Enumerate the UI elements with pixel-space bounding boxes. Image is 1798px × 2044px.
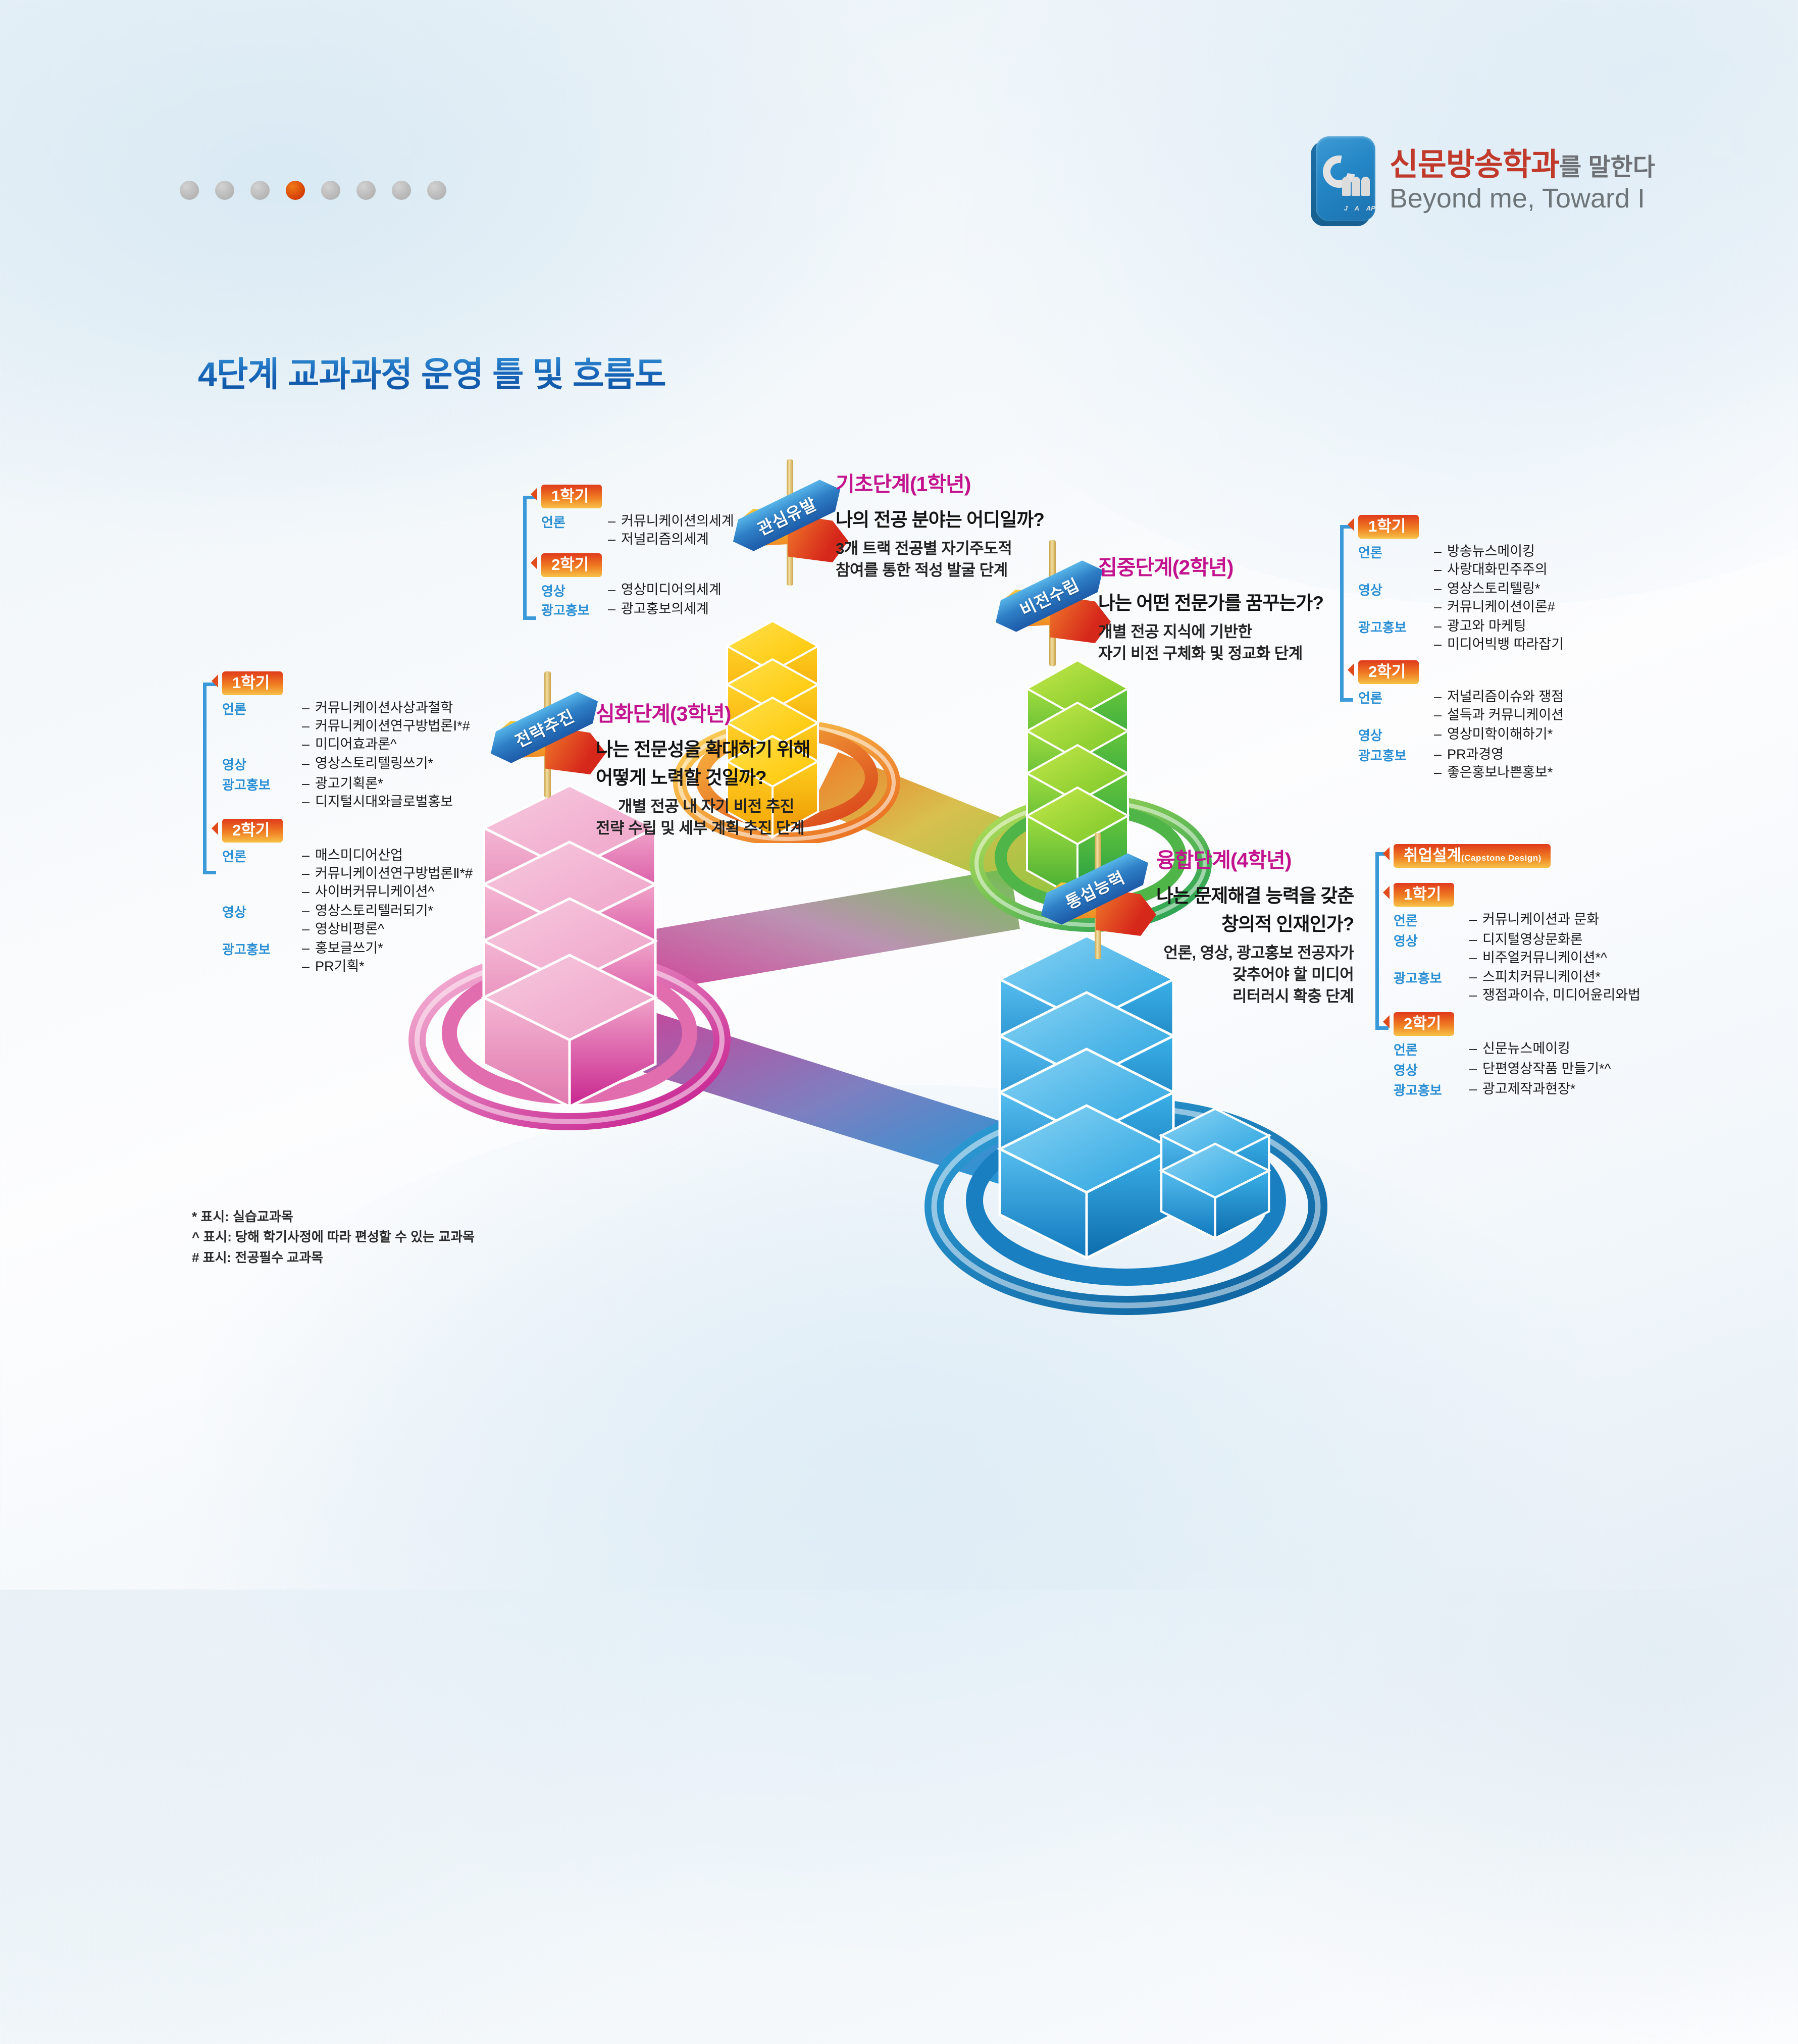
track-label: 언론: [1394, 913, 1469, 927]
course-item: –매스미디어산업: [302, 849, 473, 862]
track-label: 영상: [1358, 727, 1434, 742]
course-item: –사이버커뮤니케이션^: [302, 885, 473, 899]
semester-group: 1학기 언론 –커뮤니케이션과 문화 영상 –디지털영상문화론 –비주얼커뮤니케…: [1394, 883, 1640, 1002]
course-item: –커뮤니케이션연구방법론Ⅰ*#: [302, 719, 470, 733]
course-item: –커뮤니케이션의세계: [608, 514, 734, 528]
semester-tag: 2학기: [222, 819, 283, 843]
panel-bracket: [203, 683, 216, 874]
course-item: –커뮤니케이션과 문화: [1469, 913, 1599, 926]
course-item: –단편영상작품 만들기*^: [1469, 1062, 1611, 1076]
stage-description-line3: 리터러시 확충 단계: [1156, 986, 1354, 1007]
track-row: 언론 –커뮤니케이션과 문화: [1394, 913, 1640, 927]
track-row: 영상 –디지털영상문화론 –비주얼커뮤니케이션*^: [1394, 933, 1640, 965]
course-item: –사랑대화민주주의: [1434, 563, 1548, 576]
track-label: 영상: [222, 757, 302, 771]
track-label: 영상: [1394, 1062, 1469, 1077]
curriculum-panel-year1: 1학기 언론 –커뮤니케이션의세계 –저널리즘의세계 2학기 영상 –영상미디어…: [541, 485, 734, 623]
course-item: –스피치커뮤니케이션*: [1469, 970, 1640, 984]
curriculum-panel-year3: 1학기 언론 –커뮤니케이션사상과철학 –커뮤니케이션연구방법론Ⅰ*# –미디어…: [222, 671, 473, 980]
track-row: 영상 –단편영상작품 만들기*^: [1394, 1062, 1640, 1077]
track-label: 언론: [1394, 1042, 1469, 1057]
stage-description-line1: 개별 전공 지식에 기반한: [1098, 622, 1323, 643]
course-item: –비주얼커뮤니케이션*^: [1469, 951, 1607, 965]
track-label: 언론: [541, 514, 608, 529]
track-row: 영상 –영상스토리텔러되기* –영상비평론^: [222, 904, 473, 936]
course-item: –PR기획*: [302, 960, 383, 973]
stage-description-line2: 갖추어야 할 미디어: [1156, 965, 1354, 985]
course-item: –쟁점과이슈, 미디어윤리와법: [1469, 988, 1640, 1002]
curriculum-panel-year4: 취업설계(Capstone Design) 1학기 언론 –커뮤니케이션과 문화…: [1394, 844, 1640, 1104]
stage-heading: 집중단계(2학년): [1098, 550, 1323, 581]
course-item: –디지털시대와글로벌홍보: [302, 795, 453, 809]
course-item: –광고와 마케팅: [1434, 619, 1564, 633]
course-item: –광고제작과현장*: [1469, 1082, 1575, 1096]
track-label: 광고홍보: [222, 777, 302, 792]
course-item: –디지털영상문화론: [1469, 933, 1607, 947]
semester-tag: 1학기: [222, 671, 283, 695]
track-row: 영상 –영상미학이해하기*: [1358, 727, 1564, 742]
track-row: 언론 –신문뉴스메이킹: [1394, 1042, 1640, 1057]
semester-tag: 2학기: [541, 553, 602, 577]
semester-tag: 1학기: [1358, 515, 1419, 539]
course-item: –커뮤니케이션사상과철학: [302, 701, 470, 715]
track-label: 광고홍보: [1394, 970, 1469, 985]
track-label: 언론: [1358, 690, 1434, 705]
semester-group: 2학기 언론 –저널리즘이슈와 쟁점 –설득과 커뮤니케이션 영상 –영상미학이…: [1358, 660, 1564, 779]
course-item: –영상스토리텔링쓰기*: [302, 757, 433, 770]
track-label: 광고홍보: [1358, 748, 1434, 762]
course-item: –영상미학이해하기*: [1434, 727, 1553, 741]
track-label: 광고홍보: [541, 602, 608, 617]
course-item: –PR과경영: [1434, 748, 1553, 761]
track-row: 언론 –커뮤니케이션사상과철학 –커뮤니케이션연구방법론Ⅰ*# –미디어효과론^: [222, 701, 473, 751]
track-row: 영상 –영상스토리텔링* –커뮤니케이션이론#: [1358, 582, 1564, 614]
stage-description-line1: 3개 트랙 전공별 자기주도적: [836, 539, 1044, 559]
track-row: 광고홍보 –광고제작과현장*: [1394, 1082, 1640, 1097]
semester-group: 2학기 영상 –영상미디어의세계 광고홍보 –광고홍보의세계: [541, 553, 734, 617]
flag-sign-convergence: 통섭능력: [1020, 828, 1171, 979]
stage-description-line2: 자기 비전 구체화 및 정교화 단계: [1098, 644, 1323, 664]
course-item: –영상비평론^: [302, 922, 433, 936]
panel-bracket: [1375, 852, 1389, 1030]
semester-group: 2학기 언론 –매스미디어산업 –커뮤니케이션연구방법론Ⅱ*# –사이버커뮤니케…: [222, 819, 473, 973]
track-row: 광고홍보 –스피치커뮤니케이션* –쟁점과이슈, 미디어윤리와법: [1394, 970, 1640, 1002]
course-item: –광고기획론*: [302, 777, 453, 791]
track-label: 영상: [541, 583, 608, 598]
stage-question-line1: 나는 전문성을 확대하기 위해: [596, 734, 810, 761]
semester-tag: 1학기: [541, 485, 602, 508]
course-item: –신문뉴스메이킹: [1469, 1042, 1570, 1056]
stage-block-convergence: 융합단계(4학년) 나는 문제해결 능력을 갖춘 창의적 인재인가? 언론, 영…: [1156, 843, 1354, 1007]
curriculum-panel-year2: 1학기 언론 –방송뉴스메이킹 –사랑대화민주주의 영상 –영상스토리텔링* –…: [1358, 515, 1564, 786]
stage-question-line2: 어떻게 노력할 것일까?: [596, 762, 810, 790]
track-label: 언론: [222, 849, 302, 863]
capstone-label-en: (Capstone Design): [1461, 853, 1542, 863]
track-row: 언론 –매스미디어산업 –커뮤니케이션연구방법론Ⅱ*# –사이버커뮤니케이션^: [222, 849, 473, 899]
stage-block-advanced: 심화단계(3학년) 나는 전문성을 확대하기 위해 어떻게 노력할 것일까? 개…: [596, 697, 810, 839]
course-item: –방송뉴스메이킹: [1434, 545, 1548, 558]
stage-description-line1: 언론, 영상, 광고홍보 전공자가: [1156, 943, 1354, 964]
track-label: 광고홍보: [222, 941, 302, 956]
stage-question: 나의 전공 분야는 어디일까?: [836, 504, 1044, 532]
stage-heading: 융합단계(4학년): [1156, 843, 1354, 873]
track-row: 영상 –영상미디어의세계: [541, 583, 734, 598]
track-label: 영상: [222, 904, 302, 919]
track-row: 광고홍보 –홍보글쓰기* –PR기획*: [222, 941, 473, 973]
footnote-item: # 표시: 전공필수 교과목: [192, 1247, 475, 1268]
track-label: 언론: [1358, 545, 1434, 559]
track-label: 광고홍보: [1358, 619, 1434, 634]
track-row: 언론 –커뮤니케이션의세계 –저널리즘의세계: [541, 514, 734, 546]
track-row: 언론 –방송뉴스메이킹 –사랑대화민주주의: [1358, 545, 1564, 576]
footnote-item: * 표시: 실습교과목: [192, 1207, 475, 1227]
course-item: –설득과 커뮤니케이션: [1434, 708, 1564, 722]
course-item: –커뮤니케이션이론#: [1434, 600, 1555, 614]
stage-question: 나는 어떤 전문가를 꿈꾸는가?: [1098, 588, 1323, 615]
track-row: 광고홍보 –광고홍보의세계: [541, 602, 734, 617]
course-item: –광고홍보의세계: [608, 602, 709, 616]
stage-question-line2: 창의적 인재인가?: [1156, 909, 1354, 936]
semester-tag: 2학기: [1394, 1012, 1454, 1036]
semester-group: 2학기 언론 –신문뉴스메이킹 영상 –단편영상작품 만들기*^ 광고홍보 –광…: [1394, 1012, 1640, 1097]
course-item: –미디어빅뱅 따라잡기: [1434, 638, 1564, 651]
stage-block-focus: 집중단계(2학년) 나는 어떤 전문가를 꿈꾸는가? 개별 전공 지식에 기반한…: [1098, 550, 1323, 664]
course-item: –미디어효과론^: [302, 738, 470, 751]
course-item: –영상스토리텔러되기*: [302, 904, 433, 918]
track-label: 언론: [222, 701, 302, 716]
stage-description-line2: 전략 수립 및 세부 계획 추진 단계: [596, 818, 810, 839]
track-row: 광고홍보 –광고기획론* –디지털시대와글로벌홍보: [222, 777, 473, 809]
track-label: 영상: [1394, 933, 1469, 948]
footnote-item: ^ 표시: 당해 학기사정에 따라 편성할 수 있는 교과목: [192, 1227, 475, 1247]
track-row: 언론 –저널리즘이슈와 쟁점 –설득과 커뮤니케이션: [1358, 690, 1564, 722]
track-row: 광고홍보 –광고와 마케팅 –미디어빅뱅 따라잡기: [1358, 619, 1564, 651]
semester-group: 1학기 언론 –방송뉴스메이킹 –사랑대화민주주의 영상 –영상스토리텔링* –…: [1358, 515, 1564, 651]
track-row: 광고홍보 –PR과경영 –좋은홍보나쁜홍보*: [1358, 748, 1564, 779]
stage-description-line2: 참여를 통한 적성 발굴 단계: [836, 560, 1044, 581]
course-item: –저널리즘이슈와 쟁점: [1434, 690, 1564, 704]
stage-heading: 기초단계(1학년): [836, 467, 1044, 497]
course-item: –영상미디어의세계: [608, 583, 722, 597]
stage-description-line1: 개별 전공 내 자기 비전 추진: [596, 797, 810, 817]
footnote-legend: * 표시: 실습교과목 ^ 표시: 당해 학기사정에 따라 편성할 수 있는 교…: [192, 1207, 475, 1268]
track-label: 영상: [1358, 582, 1434, 597]
semester-tag: 2학기: [1358, 660, 1419, 684]
stage-question-line1: 나는 문제해결 능력을 갖춘: [1156, 880, 1354, 908]
track-row: 영상 –영상스토리텔링쓰기*: [222, 757, 473, 771]
semester-group: 1학기 언론 –커뮤니케이션사상과철학 –커뮤니케이션연구방법론Ⅰ*# –미디어…: [222, 671, 473, 809]
semester-group: 1학기 언론 –커뮤니케이션의세계 –저널리즘의세계: [541, 485, 734, 546]
stage-block-foundation: 기초단계(1학년) 나의 전공 분야는 어디일까? 3개 트랙 전공별 자기주도…: [836, 467, 1044, 581]
course-item: –영상스토리텔링*: [1434, 582, 1555, 596]
capstone-label: 취업설계: [1404, 847, 1461, 864]
course-item: –좋은홍보나쁜홍보*: [1434, 766, 1553, 779]
course-item: –홍보글쓰기*: [302, 941, 383, 955]
course-item: –커뮤니케이션연구방법론Ⅱ*#: [302, 867, 473, 880]
semester-tag: 1학기: [1394, 883, 1454, 907]
capstone-tag: 취업설계(Capstone Design): [1394, 844, 1551, 868]
track-label: 광고홍보: [1394, 1082, 1469, 1097]
course-item: –저널리즘의세계: [608, 533, 734, 546]
stage-heading: 심화단계(3학년): [596, 697, 810, 727]
